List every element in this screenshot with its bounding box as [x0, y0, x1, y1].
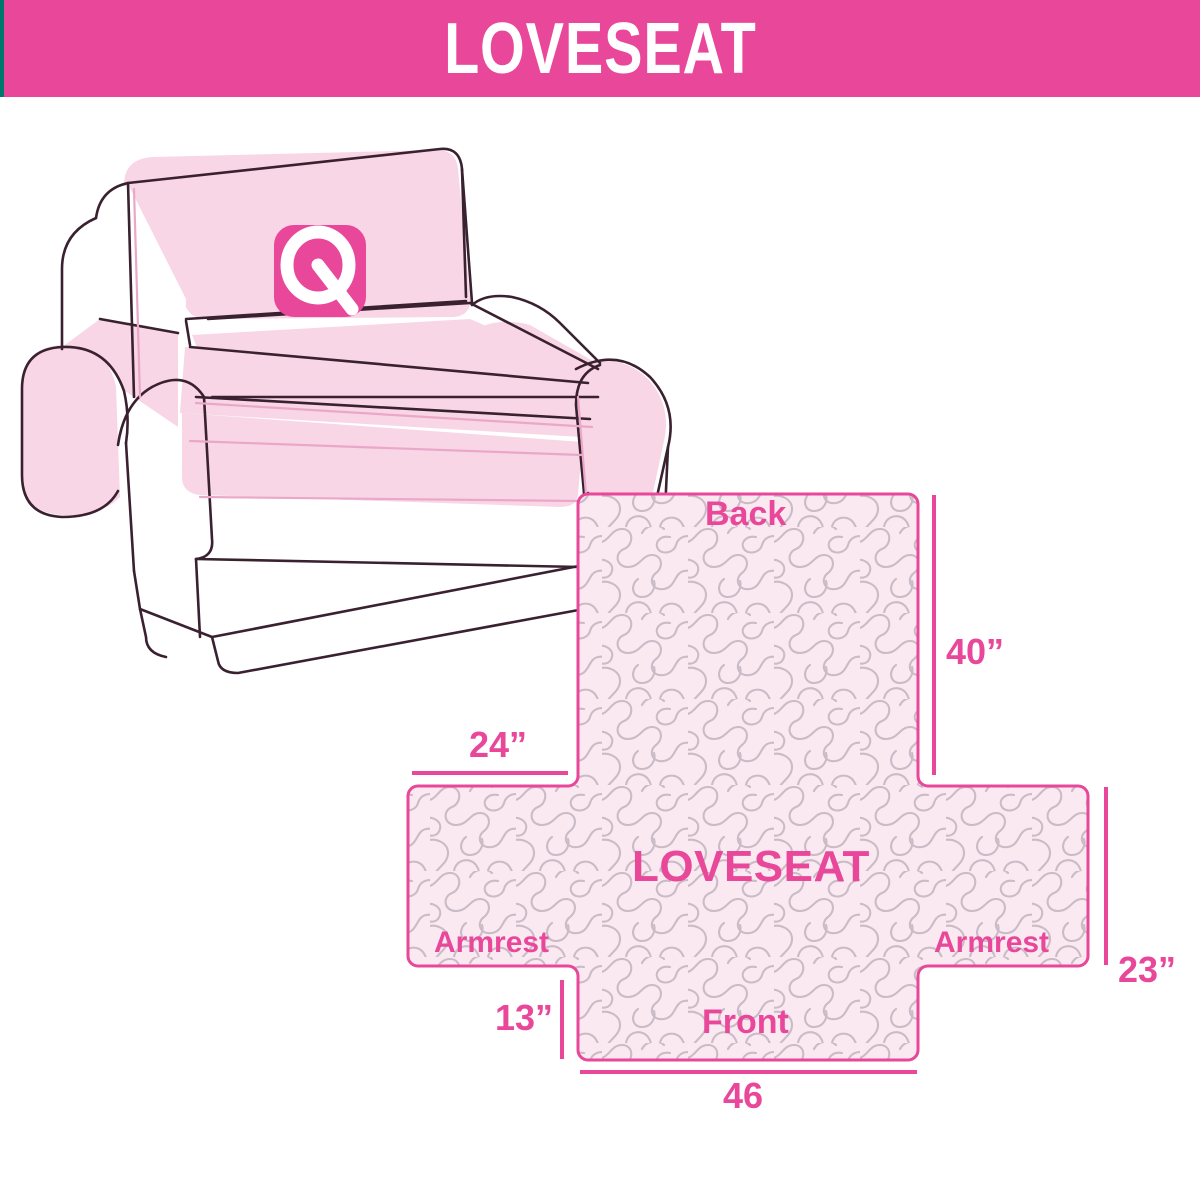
- panel-label-armrest-right: Armrest: [934, 928, 1049, 958]
- cover-outline: [408, 494, 1088, 1060]
- dimension-label-total-width: 46: [723, 1078, 763, 1114]
- panel-label-front: Front: [702, 1005, 789, 1039]
- left-edge-strip: [0, 0, 4, 97]
- dimension-label-armrest-height: 23”: [1118, 952, 1176, 988]
- dimension-label-front-height: 13”: [495, 1000, 553, 1036]
- cover-layout-diagram: [0, 97, 1200, 1200]
- panel-label-back: Back: [705, 497, 786, 531]
- panel-label-armrest-left: Armrest: [434, 928, 549, 958]
- dimension-label-back-height: 40”: [946, 634, 1004, 670]
- panel-label-center: LOVESEAT: [632, 845, 870, 889]
- page-title: LOVESEAT: [444, 13, 757, 85]
- content-canvas: Back LOVESEAT Armrest Armrest Front 40” …: [0, 97, 1200, 1200]
- header-banner: LOVESEAT: [0, 0, 1200, 97]
- dimension-label-armrest-width: 24”: [469, 727, 527, 763]
